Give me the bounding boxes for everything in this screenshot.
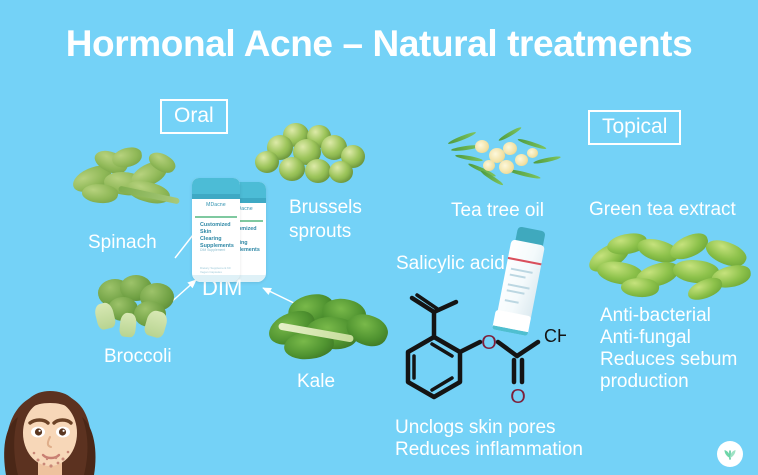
label-green-tea-extract: Green tea extract bbox=[589, 198, 736, 222]
chem-atom-carbonyl-oxygen: O bbox=[510, 386, 526, 408]
tea-tree-plant-image bbox=[445, 128, 563, 190]
category-chip-oral: Oral bbox=[160, 99, 228, 134]
kale-image bbox=[262, 295, 392, 363]
label-tea-tree-oil: Tea tree oil bbox=[451, 199, 544, 223]
bottle-brand-front: MDacne bbox=[192, 202, 240, 208]
green-tea-benefits-list: Anti-bacterial Anti-fungal Reduces sebum… bbox=[600, 305, 737, 393]
chemical-structure-acetylsalicylic-acid: O O CH3 bbox=[386, 290, 566, 415]
brussels-sprouts-image bbox=[253, 123, 373, 185]
label-broccoli: Broccoli bbox=[104, 345, 172, 369]
broccoli-image bbox=[90, 275, 182, 341]
page-title: Hormonal Acne – Natural treatments bbox=[0, 22, 758, 66]
bottle-title-front: Customized Skin Clearing Supplements bbox=[200, 222, 234, 250]
chem-atom-ester-oxygen: O bbox=[481, 332, 497, 354]
label-salicylic-acid: Salicylic acid bbox=[396, 252, 505, 276]
supplement-bottle-front: MDacne Customized Skin Clearing Suppleme… bbox=[192, 178, 240, 282]
chem-atom-methyl: CH3 bbox=[544, 326, 566, 349]
label-spinach: Spinach bbox=[88, 231, 157, 255]
label-kale: Kale bbox=[297, 370, 335, 394]
category-chip-topical: Topical bbox=[588, 110, 681, 145]
mdacne-leaf-logo bbox=[717, 441, 743, 467]
woman-with-acne-illustration bbox=[0, 381, 112, 475]
spinach-image bbox=[68, 146, 188, 212]
salicylic-acid-effects-list: Unclogs skin pores Reduces inflammation bbox=[395, 417, 583, 461]
bottle-subtitle-front: DIM Supplement bbox=[200, 248, 234, 253]
label-brussels-sprouts: Brussels sprouts bbox=[289, 196, 362, 244]
dim-supplement-bottles-image: MDacne Customized Skin Clearing Suppleme… bbox=[186, 174, 282, 284]
green-tea-leaves-image bbox=[583, 228, 755, 306]
bottle-footer-front: Dietary Supplement 60 Vegan Capsules bbox=[200, 266, 234, 274]
infographic-canvas: Hormonal Acne – Natural treatments Oral … bbox=[0, 0, 758, 475]
